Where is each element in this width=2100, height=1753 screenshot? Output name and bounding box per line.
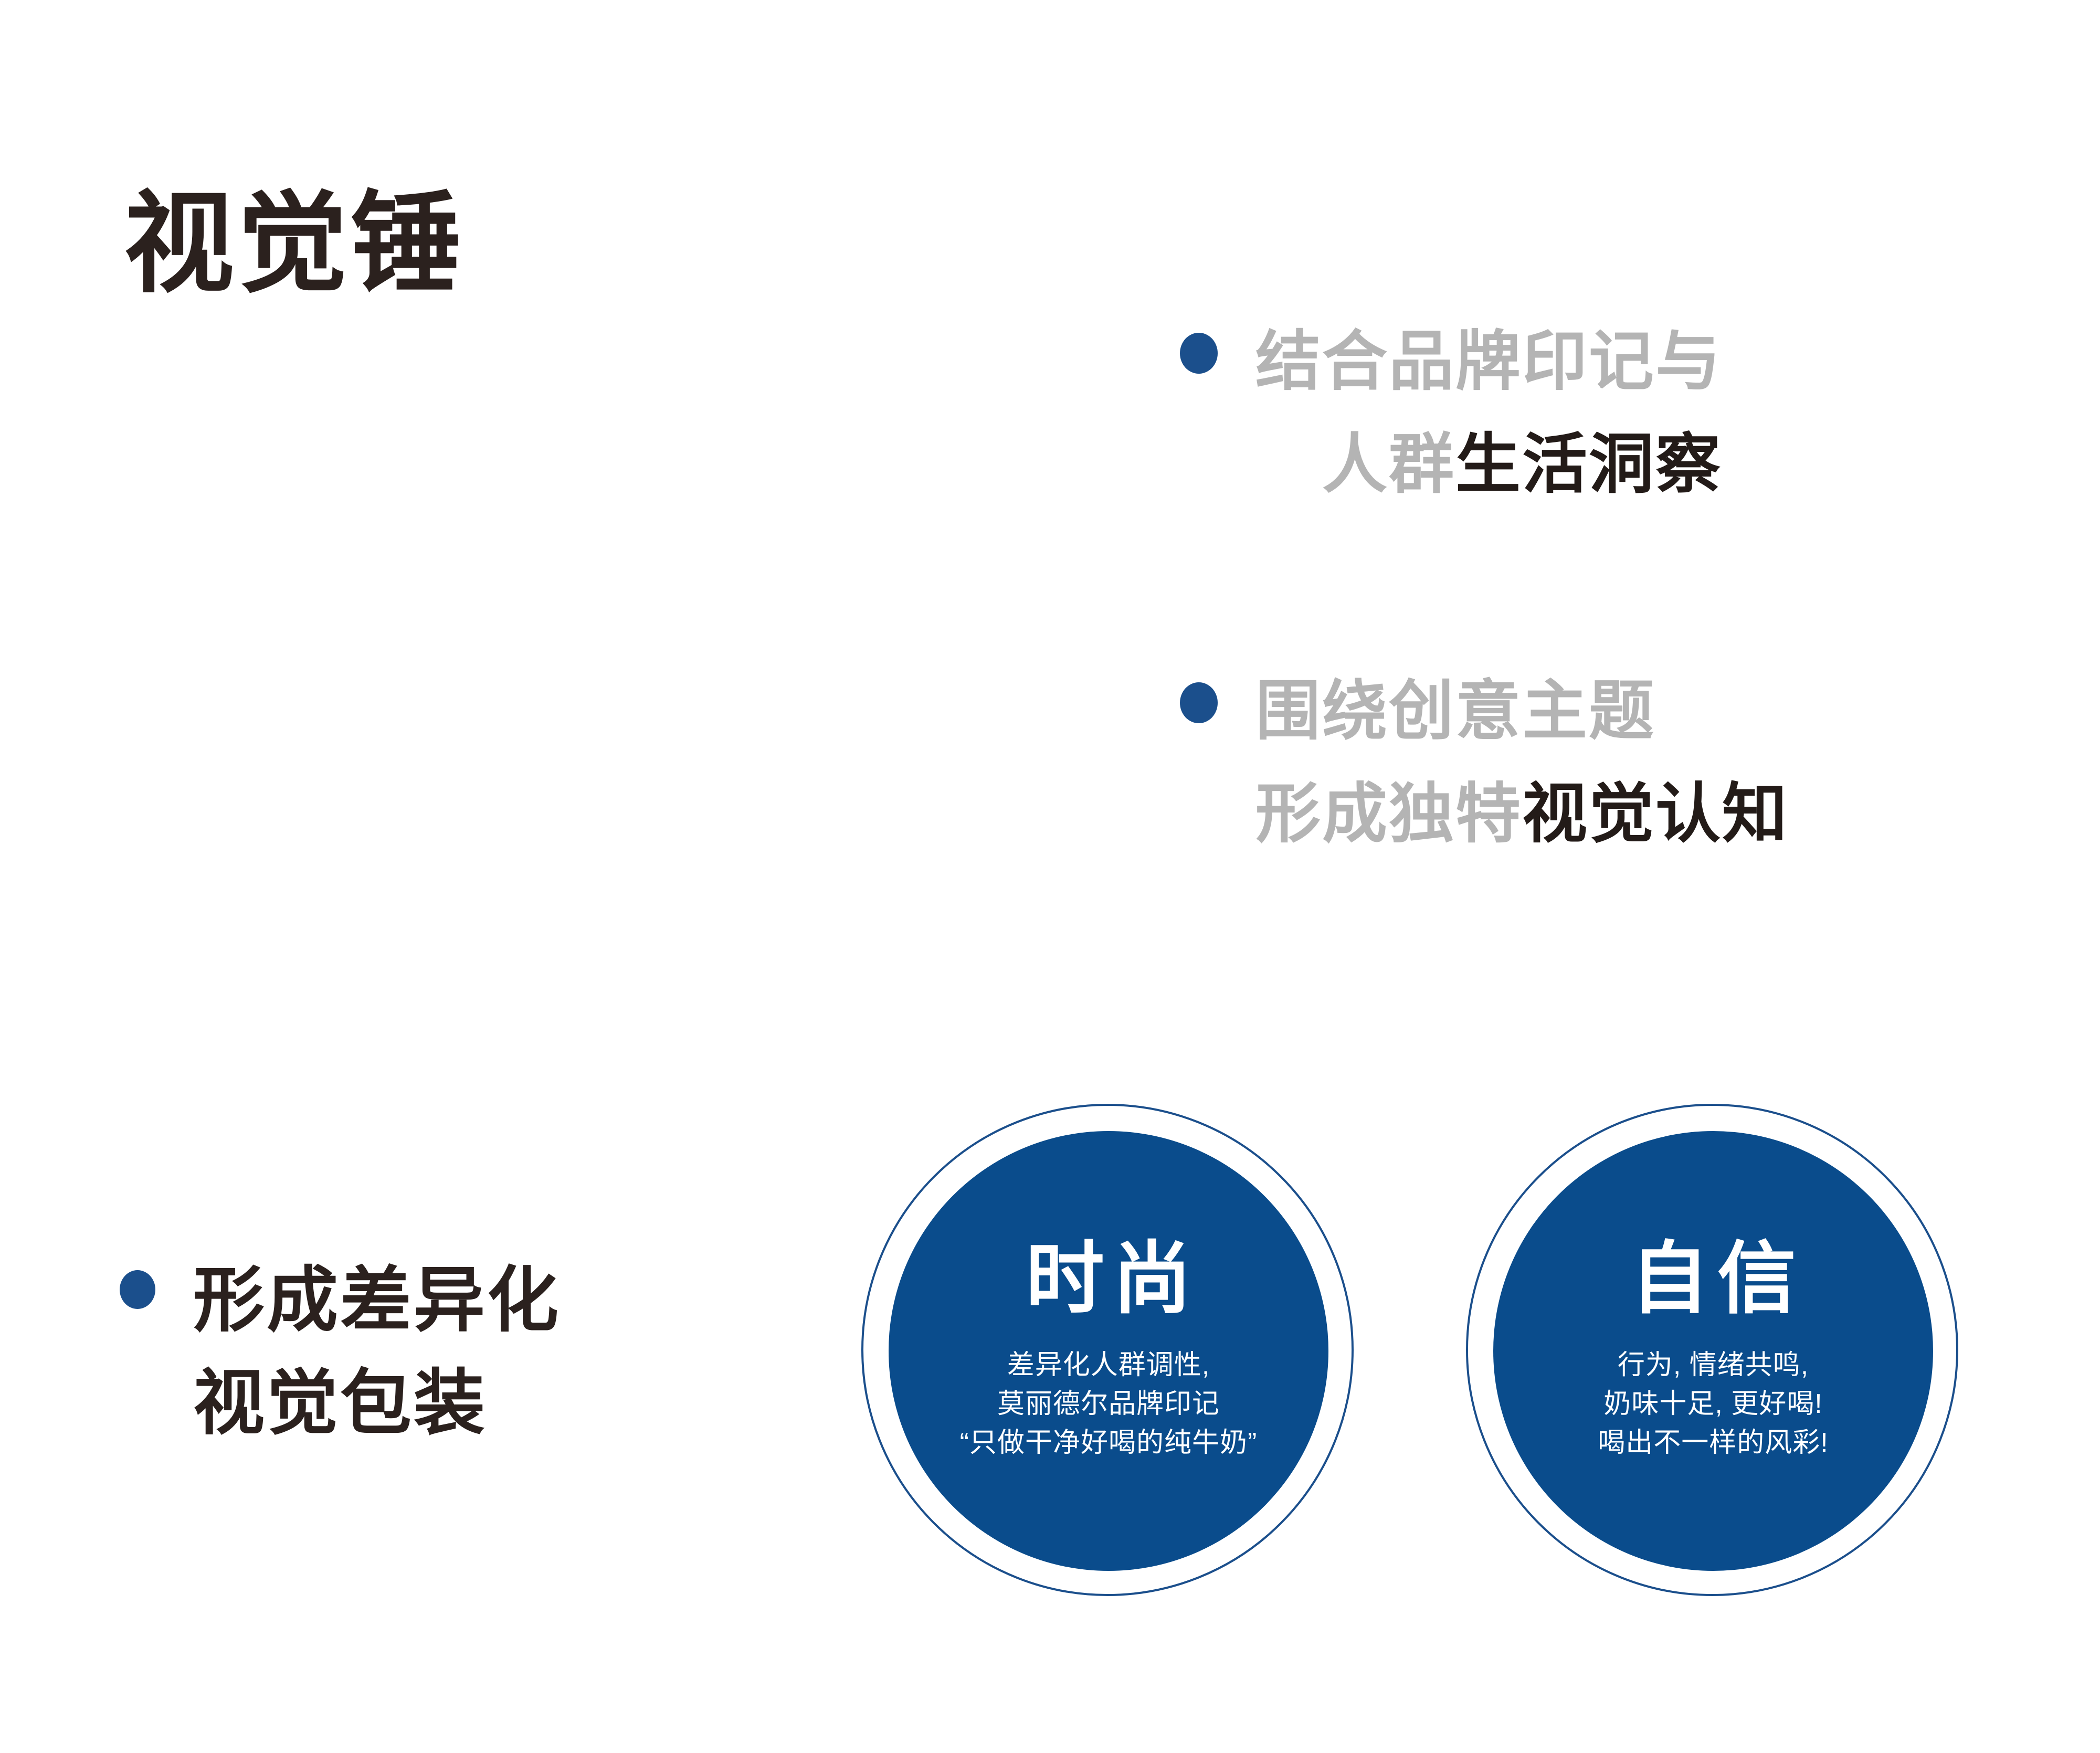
concept-circle-confidence-body: 行为, 情绪共鸣, 奶味十足, 更好喝! 喝出不一样的风彩!	[1598, 1346, 1828, 1462]
concept-circle-confidence-body-line3: 喝出不一样的风彩!	[1598, 1424, 1828, 1463]
left-callout-line2: 视觉包装	[193, 1352, 561, 1455]
bullet-item-2-line2-muted: 形成独特	[1255, 778, 1522, 850]
concept-circle-fashion-fill: 时尚 差异化人群调性, 莫丽德尔品牌印记 “只做干净好喝的纯牛奶”	[889, 1131, 1328, 1571]
bullet-dot-icon	[120, 1270, 155, 1309]
left-callout-line1: 形成差异化	[193, 1249, 561, 1352]
concept-circle-fashion-body-line1: 差异化人群调性,	[960, 1346, 1258, 1385]
bullet-item-1-line2-strong: 生活洞察	[1455, 428, 1722, 501]
bullet-item-2-text: 围绕创意主题 形成独特视觉认知	[1255, 660, 1789, 866]
bullet-dot-icon	[1180, 682, 1218, 723]
bullet-item-1: 结合品牌印记与 人群生活洞察	[1180, 311, 1722, 516]
concept-circle-confidence-title: 自信	[1622, 1239, 1804, 1318]
concept-circle-fashion-title: 时尚	[1017, 1239, 1200, 1318]
concept-circle-confidence-body-line2: 奶味十足, 更好喝!	[1598, 1385, 1828, 1424]
bullet-item-2-line2: 形成独特视觉认知	[1255, 763, 1789, 866]
concept-circle-confidence-fill: 自信 行为, 情绪共鸣, 奶味十足, 更好喝! 喝出不一样的风彩!	[1493, 1131, 1933, 1571]
left-callout-text: 形成差异化 视觉包装	[193, 1249, 561, 1455]
page-title: 视觉锤	[124, 185, 464, 304]
slide-canvas: 视觉锤 结合品牌印记与 人群生活洞察 围绕创意主题 形成独特视觉认知 形成差异化…	[0, 0, 2100, 1753]
bullet-item-1-line1: 结合品牌印记与	[1255, 311, 1722, 414]
bullet-dot-icon	[1180, 333, 1218, 374]
concept-circle-fashion-body-line3: “只做干净好喝的纯牛奶”	[960, 1424, 1258, 1463]
concept-circle-fashion: 时尚 差异化人群调性, 莫丽德尔品牌印记 “只做干净好喝的纯牛奶”	[861, 1104, 1354, 1596]
concept-circle-confidence-body-line1: 行为, 情绪共鸣,	[1598, 1346, 1828, 1385]
left-callout: 形成差异化 视觉包装	[120, 1249, 561, 1455]
concept-circle-fashion-body-line2: 莫丽德尔品牌印记	[960, 1385, 1258, 1424]
bullet-item-2: 围绕创意主题 形成独特视觉认知	[1180, 660, 1789, 866]
bullet-item-1-line2: 人群生活洞察	[1255, 414, 1722, 516]
bullet-item-1-line2-muted: 人群	[1322, 428, 1455, 501]
bullet-item-1-text: 结合品牌印记与 人群生活洞察	[1255, 311, 1722, 516]
bullet-item-2-line2-strong: 视觉认知	[1522, 778, 1789, 850]
concept-circle-confidence: 自信 行为, 情绪共鸣, 奶味十足, 更好喝! 喝出不一样的风彩!	[1466, 1104, 1958, 1596]
concept-circle-fashion-body: 差异化人群调性, 莫丽德尔品牌印记 “只做干净好喝的纯牛奶”	[960, 1346, 1258, 1462]
bullet-item-2-line1: 围绕创意主题	[1255, 660, 1789, 763]
